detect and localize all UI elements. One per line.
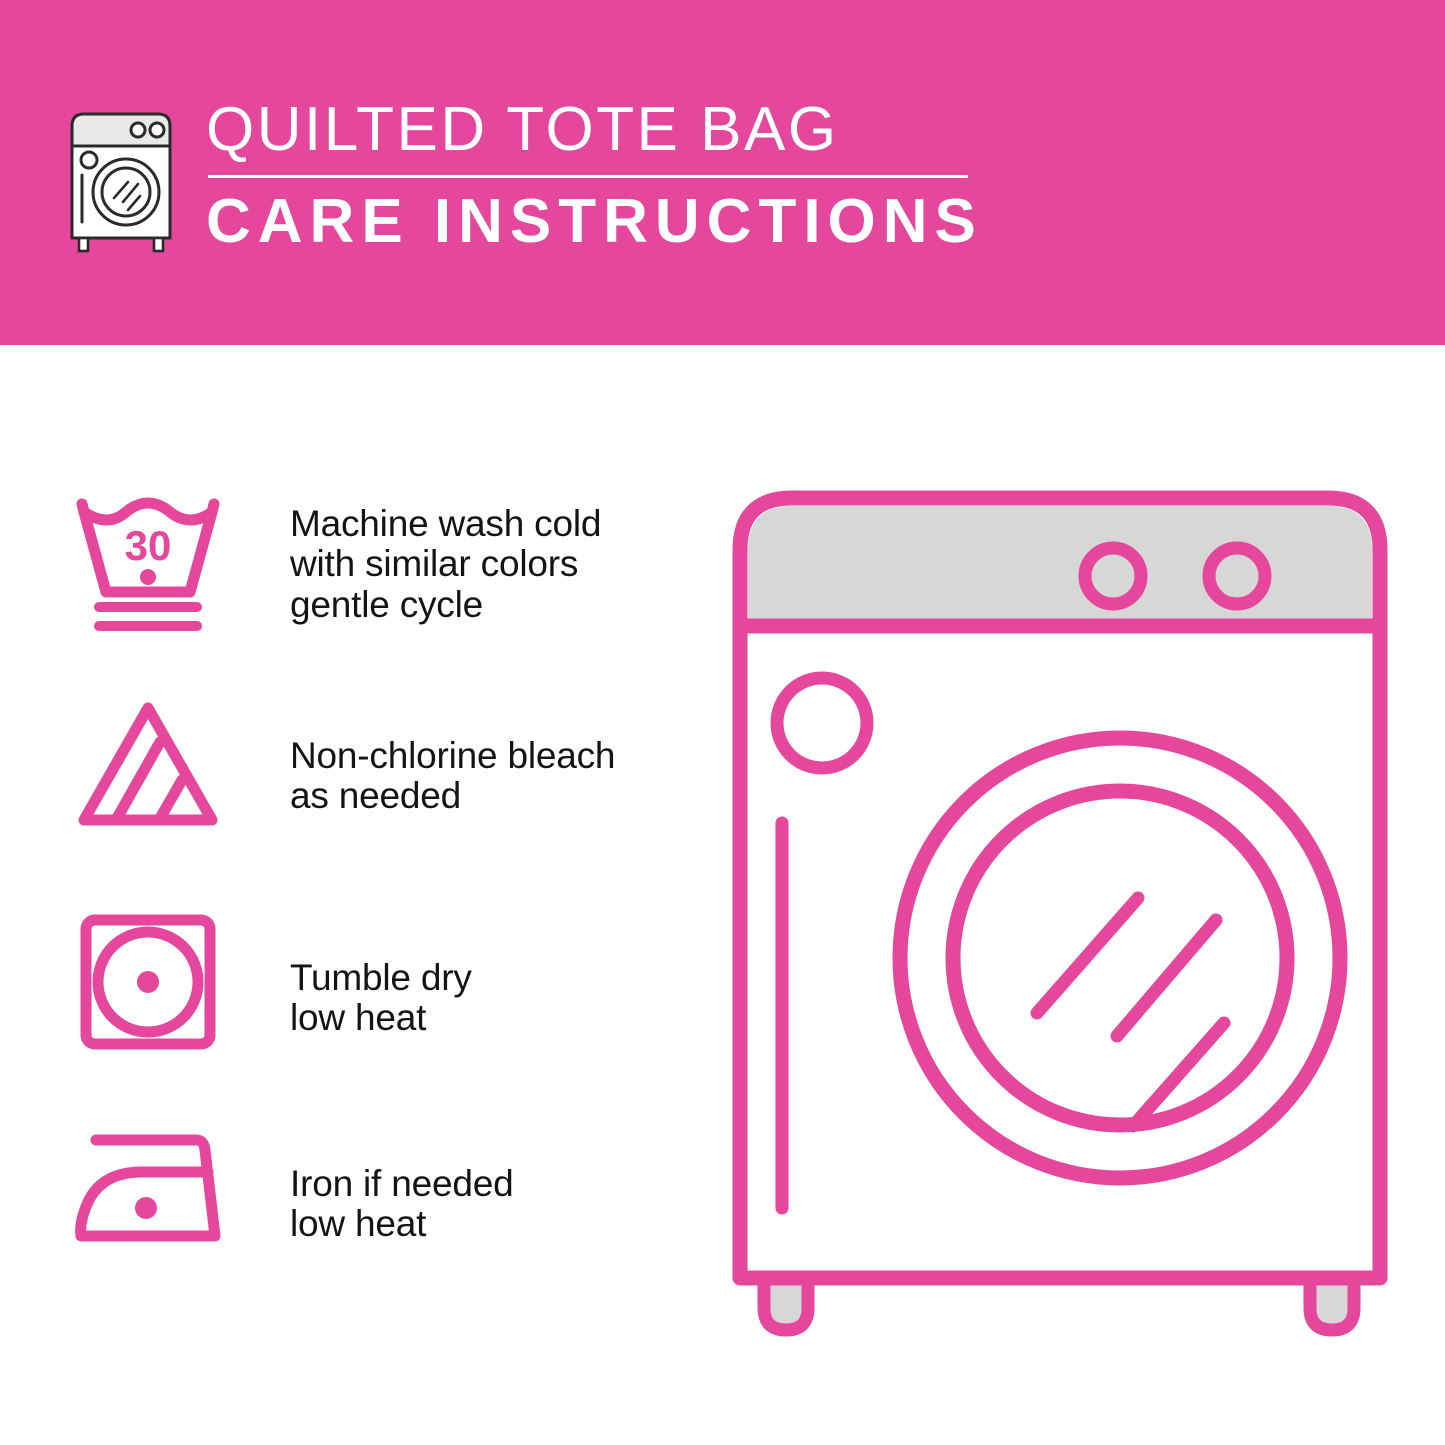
iron-low-heat-icon xyxy=(58,1118,238,1278)
care-instructions-page: QUILTED TOTE BAG CARE INSTRUCTIONS 30 xyxy=(0,0,1445,1445)
header-band: QUILTED TOTE BAG CARE INSTRUCTIONS xyxy=(0,0,1445,345)
header-titles: QUILTED TOTE BAG CARE INSTRUCTIONS xyxy=(206,98,983,253)
washing-machine-illustration xyxy=(710,468,1410,1368)
care-line: low heat xyxy=(290,1204,513,1244)
care-line: with similar colors xyxy=(290,544,601,584)
care-line: Iron if needed xyxy=(290,1164,513,1204)
care-text-wash: Machine wash cold with similar colors ge… xyxy=(238,482,601,625)
care-instruction-list: 30 Machine wash cold with similar colors… xyxy=(58,482,698,1330)
care-line: gentle cycle xyxy=(290,585,601,625)
care-text-bleach: Non-chlorine bleach as needed xyxy=(238,694,615,817)
care-line: as needed xyxy=(290,776,615,816)
title-divider xyxy=(208,175,968,178)
care-text-iron: Iron if needed low heat xyxy=(238,1118,513,1245)
care-line: Machine wash cold xyxy=(290,504,601,544)
care-row-wash: 30 Machine wash cold with similar colors… xyxy=(58,482,698,694)
control-panel xyxy=(748,506,1372,626)
header-content: QUILTED TOTE BAG CARE INSTRUCTIONS xyxy=(58,98,983,254)
tumble-dry-low-icon xyxy=(58,906,238,1066)
care-text-tumble-dry: Tumble dry low heat xyxy=(238,906,472,1039)
page-title: QUILTED TOTE BAG xyxy=(206,98,983,161)
care-row-tumble-dry: Tumble dry low heat xyxy=(58,906,698,1118)
wash-tub-30-gentle-icon: 30 xyxy=(58,482,238,642)
page-subtitle: CARE INSTRUCTIONS xyxy=(206,190,983,253)
non-chlorine-bleach-triangle-icon xyxy=(58,694,238,854)
care-line: Tumble dry xyxy=(290,958,472,998)
care-row-bleach: Non-chlorine bleach as needed xyxy=(58,694,698,906)
care-line: low heat xyxy=(290,998,472,1038)
care-row-iron: Iron if needed low heat xyxy=(58,1118,698,1330)
wash-temperature-label: 30 xyxy=(125,522,172,569)
washing-machine-icon xyxy=(58,102,184,254)
care-line: Non-chlorine bleach xyxy=(290,736,615,776)
